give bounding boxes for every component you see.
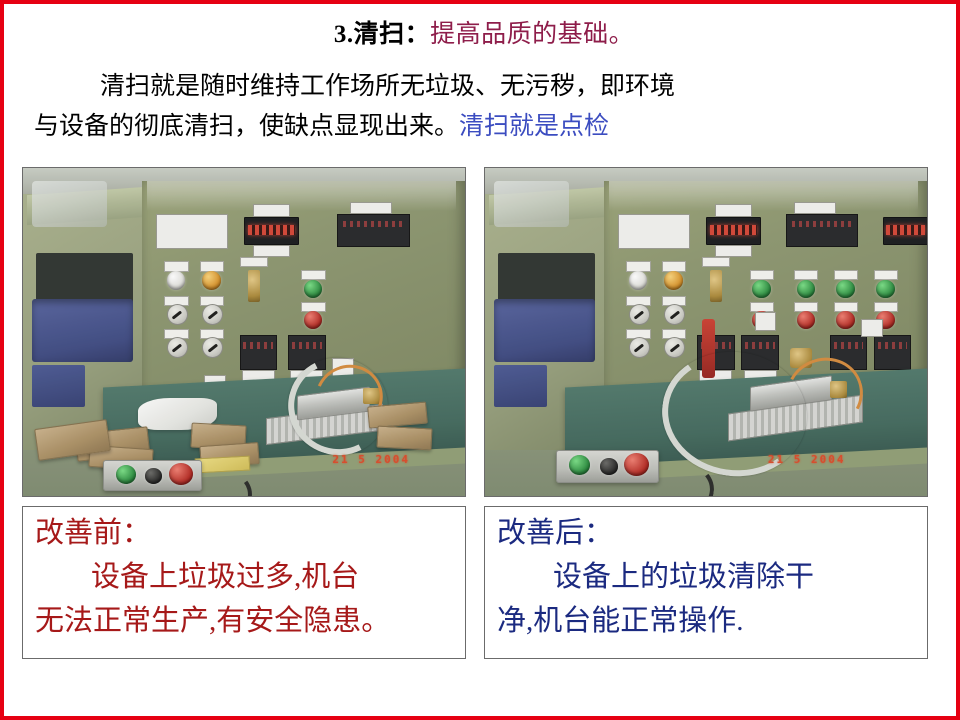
photo-date-stamp: 21 5 2004: [768, 453, 846, 466]
photo-row: 21 5 2004: [22, 167, 928, 497]
plastic-bag: [494, 181, 569, 227]
paragraph-line-1: 清扫就是随时维持工作场所无垃圾、无污秽，即环境: [34, 67, 934, 107]
selector-stem: [710, 270, 721, 303]
lamp-tag-g3: [702, 257, 731, 268]
title-number: 3.清扫：: [334, 21, 430, 48]
meter-label-1: [715, 204, 752, 216]
selector-stem: [248, 270, 259, 303]
intro-paragraph: 清扫就是随时维持工作场所无垃圾、无污秽，即环境 与设备的彻底清扫，使缺点显现出来…: [34, 67, 934, 147]
paragraph-line-2: 与设备的彻底清扫，使缺点显现出来。: [34, 113, 459, 140]
cardboard-scrap-6: [376, 426, 432, 451]
lamp-green-1: [304, 280, 323, 298]
meter-label-2: [794, 202, 836, 214]
photo-before: 21 5 2004: [22, 167, 466, 497]
page-title: 3.清扫：提高品质的基础。: [4, 18, 960, 52]
caption-after-heading: 改善后：: [497, 511, 921, 555]
paragraph-line-2-wrap: 与设备的彻底清扫，使缺点显现出来。清扫就是点检: [34, 107, 934, 147]
pushbutton-green: [116, 465, 136, 484]
lamp-white-1: [629, 271, 648, 289]
lamp-tag-g4: [301, 270, 325, 281]
meter-label-1: [253, 204, 290, 216]
comparison-table: 21 5 2004: [22, 167, 928, 659]
lamp-tag-g3: [240, 257, 269, 268]
lamp-tag-g5: [794, 270, 818, 281]
instruction-placard: [618, 214, 691, 249]
digital-meter-1: [706, 217, 761, 245]
meter-label-2: [350, 202, 392, 214]
lamp-green-2: [797, 280, 816, 298]
blue-bin-lower: [32, 365, 85, 408]
caption-after-line-1: 设备上的垃圾清除干: [497, 555, 921, 599]
meter-sublabel-1: [715, 245, 752, 257]
title-accent: 提高品质的基础。: [430, 21, 634, 48]
photo-before-scene: 21 5 2004: [23, 168, 465, 496]
lamp-tag-g6: [834, 270, 858, 281]
lamp-green-4: [876, 280, 895, 298]
digital-meter-1: [244, 217, 299, 245]
lamp-white-1: [167, 271, 186, 289]
caption-before-body: 设备上垃圾过多,机台 无法正常生产,有安全隐患。: [35, 555, 459, 643]
lamp-red-3: [836, 311, 855, 329]
letter-placard-c: [755, 312, 777, 330]
paragraph-highlight: 清扫就是点检: [459, 113, 609, 140]
caption-row: 改善前： 设备上垃圾过多,机台 无法正常生产,有安全隐患。 改善后： 设备上的垃…: [22, 506, 928, 659]
emergency-stop-button: [169, 463, 193, 485]
caption-before-heading: 改善前：: [35, 511, 459, 555]
caption-after-body: 设备上的垃圾清除干 净,机台能正常操作.: [497, 555, 921, 643]
pushbutton-green: [569, 455, 590, 475]
instruction-placard: [156, 214, 229, 249]
blue-bin: [494, 299, 596, 361]
digital-meter-2: [883, 217, 928, 245]
lamp-amber-1: [202, 271, 221, 289]
lamp-tag-g7: [874, 270, 898, 281]
lamp-red-1: [304, 311, 323, 329]
lamp-green-3: [836, 280, 855, 298]
blue-bin: [32, 299, 134, 361]
slide-root: 3.清扫：提高品质的基础。 清扫就是随时维持工作场所无垃圾、无污秽，即环境 与设…: [0, 0, 960, 720]
lamp-green-1: [752, 280, 771, 298]
caption-before: 改善前： 设备上垃圾过多,机台 无法正常生产,有安全隐患。: [22, 506, 466, 659]
cabinet-glare: [609, 181, 918, 211]
photo-after: 21 5 2004: [484, 167, 928, 497]
letter-placard-b: [861, 319, 883, 337]
controller-module-4: [874, 335, 911, 370]
pushbutton-black: [600, 458, 618, 474]
lamp-tag-g4: [750, 270, 774, 281]
emergency-stop-button: [624, 453, 649, 476]
controller-unit-1: [337, 214, 410, 247]
caption-after-line-2: 净,机台能正常操作.: [497, 599, 921, 643]
photo-date-stamp: 21 5 2004: [332, 453, 410, 466]
pushbutton-black: [145, 468, 163, 484]
plastic-bag: [32, 181, 107, 227]
controller-module-1: [240, 335, 277, 370]
caption-before-line-1: 设备上垃圾过多,机台: [35, 555, 459, 599]
blue-bin-lower: [494, 365, 547, 408]
caption-after: 改善后： 设备上的垃圾清除干 净,机台能正常操作.: [484, 506, 928, 659]
controller-unit-1: [786, 214, 859, 247]
cabinet-glare: [147, 181, 456, 211]
lamp-amber-1: [664, 271, 683, 289]
photo-after-scene: 21 5 2004: [485, 168, 927, 496]
lamp-red-2: [797, 311, 816, 329]
caption-before-line-2: 无法正常生产,有安全隐患。: [35, 599, 459, 643]
meter-sublabel-1: [253, 245, 290, 257]
